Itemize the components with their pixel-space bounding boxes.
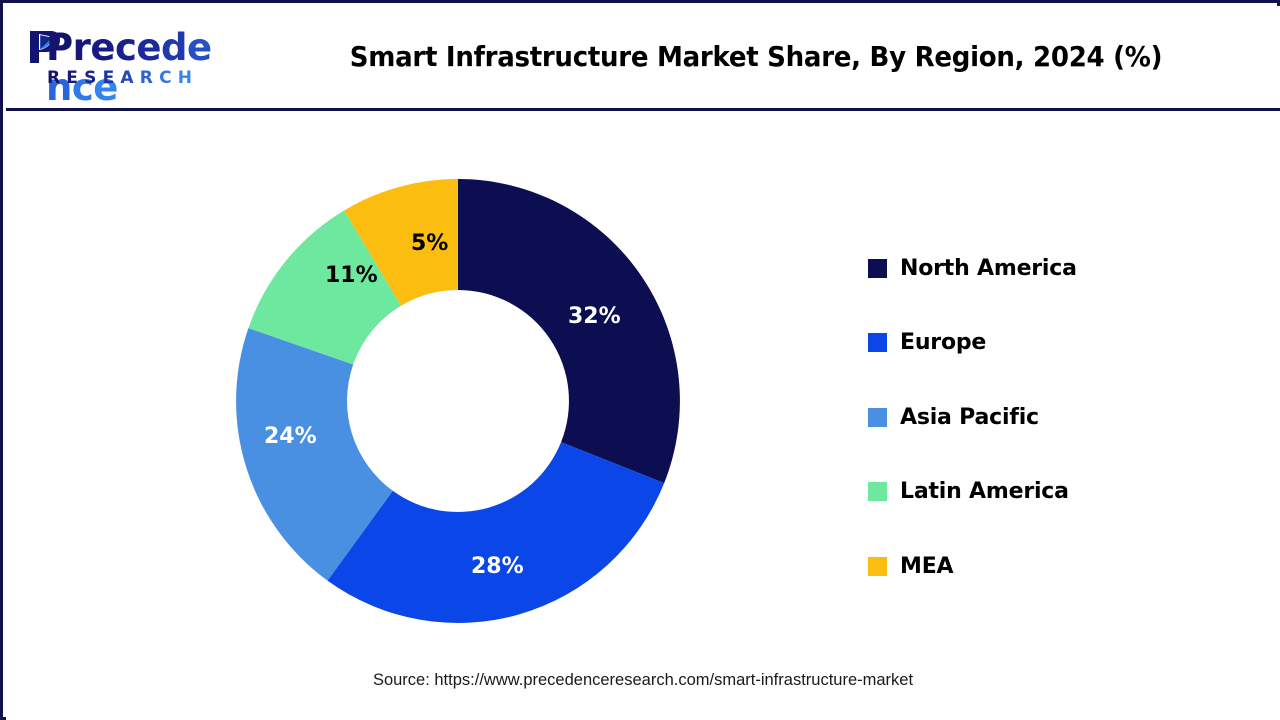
slice-label-north-america: 32% — [568, 304, 621, 329]
legend-label-north-america: North America — [900, 256, 1077, 281]
legend-label-asia-pacific: Asia Pacific — [900, 405, 1039, 430]
slice-north-america[interactable] — [458, 179, 680, 483]
chart-legend: North America Europe Asia Pacific Latin … — [868, 231, 1198, 604]
legend-swatch-asia-pacific — [868, 408, 887, 427]
legend-swatch-mea — [868, 557, 887, 576]
slice-label-mea: 5% — [411, 231, 448, 256]
source-caption: Source: https://www.precedenceresearch.c… — [6, 671, 1280, 690]
legend-swatch-europe — [868, 333, 887, 352]
slice-label-asia-pacific: 24% — [264, 424, 317, 449]
precedence-research-logo: Precedence RESEARCH — [20, 28, 235, 94]
chart-frame: Precedence RESEARCH Smart Infrastructure… — [0, 0, 1280, 720]
slice-label-latin-america: 11% — [325, 263, 378, 288]
legend-swatch-north-america — [868, 259, 887, 278]
chart-body: 32% 28% 24% 11% 5% North America Europe … — [6, 111, 1280, 720]
donut-chart: 32% 28% 24% 11% 5% — [228, 171, 688, 631]
header-bar: Precedence RESEARCH Smart Infrastructure… — [6, 6, 1280, 111]
donut-svg — [228, 171, 688, 631]
legend-label-mea: MEA — [900, 554, 953, 579]
slice-europe[interactable] — [328, 442, 665, 623]
legend-label-europe: Europe — [900, 330, 986, 355]
legend-item-latin-america[interactable]: Latin America — [868, 455, 1198, 530]
donut-slices — [236, 179, 680, 623]
legend-item-europe[interactable]: Europe — [868, 306, 1198, 381]
legend-item-mea[interactable]: MEA — [868, 529, 1198, 604]
slice-label-europe: 28% — [471, 554, 524, 579]
legend-swatch-latin-america — [868, 482, 887, 501]
legend-item-asia-pacific[interactable]: Asia Pacific — [868, 380, 1198, 455]
legend-label-latin-america: Latin America — [900, 479, 1069, 504]
chart-title: Smart Infrastructure Market Share, By Re… — [291, 6, 1221, 108]
logo-subtext: RESEARCH — [47, 68, 198, 88]
legend-item-north-america[interactable]: North America — [868, 231, 1198, 306]
